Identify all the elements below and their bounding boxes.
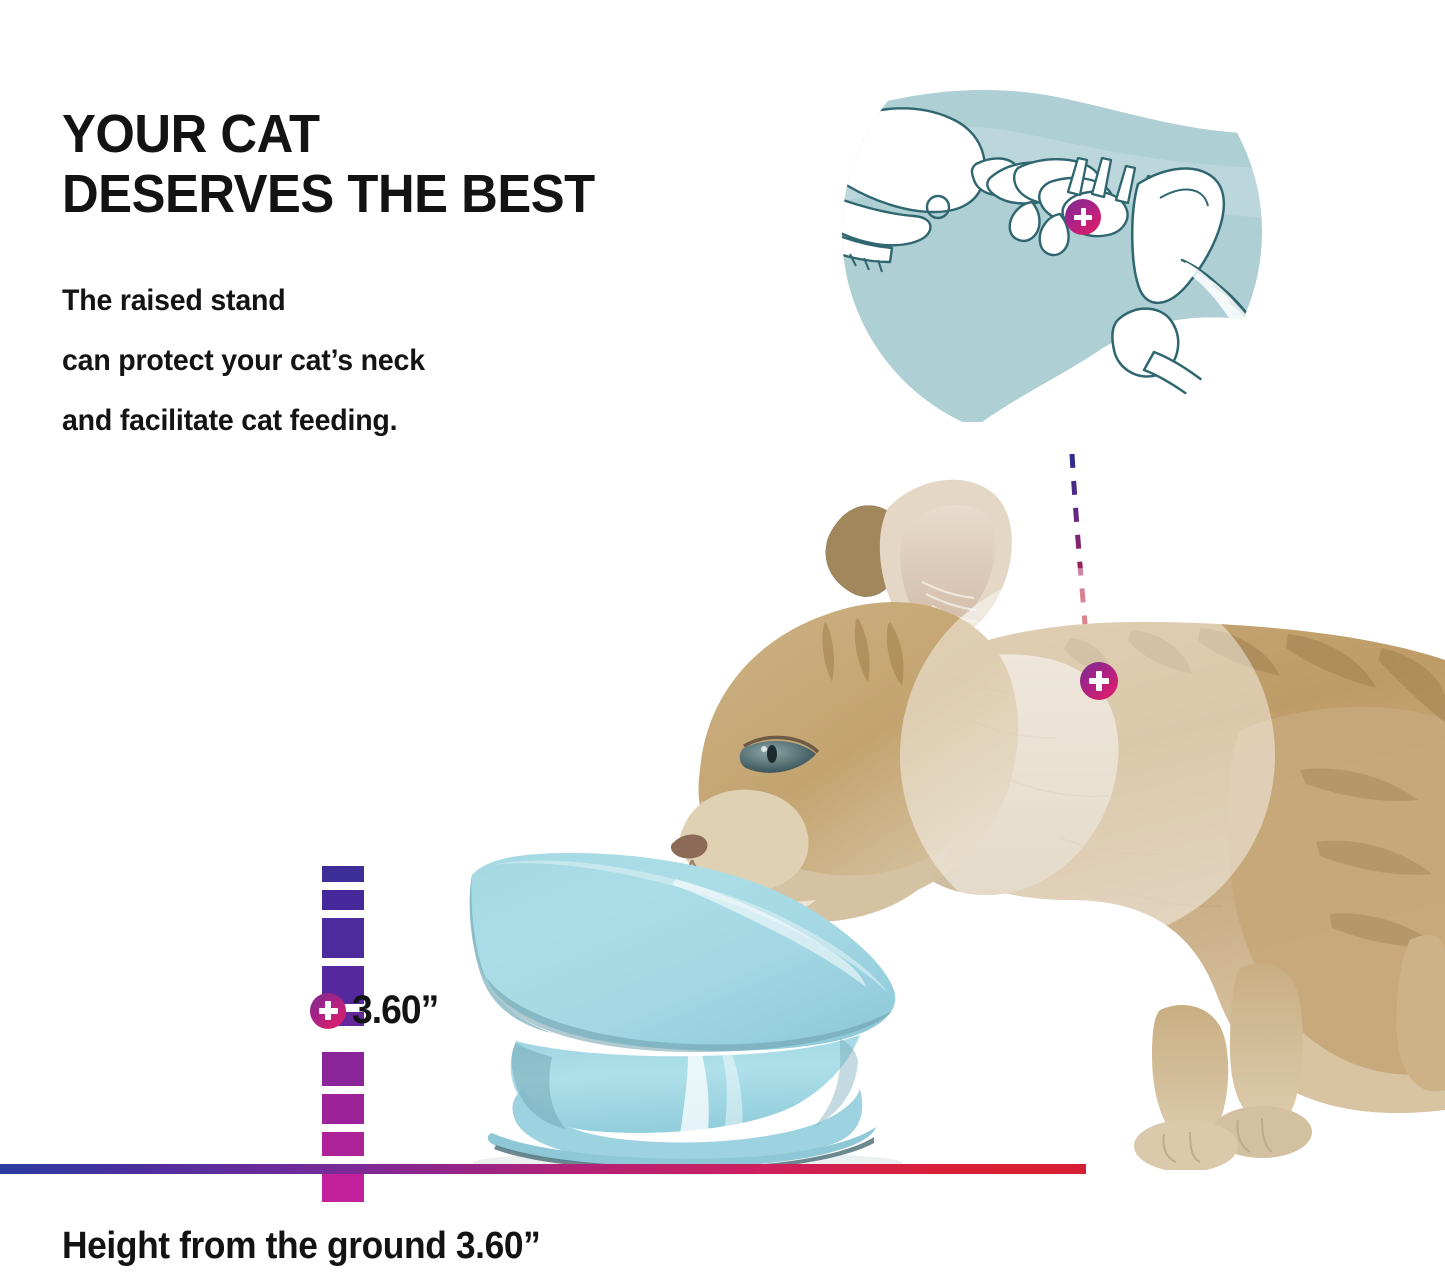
subcopy-line-1: The raised stand — [62, 284, 425, 318]
height-measurement-label: 3.60” — [310, 988, 445, 1033]
headline-line-2: DESERVES THE BEST — [62, 164, 595, 224]
ruler-segment — [322, 866, 364, 882]
xray-neck-plus-icon — [1065, 199, 1101, 235]
ruler-segment — [322, 1132, 364, 1156]
ruler-segment — [322, 1094, 364, 1124]
headline-line-1: YOUR CAT — [62, 104, 595, 164]
product-feature-canvas: YOUR CAT DESERVES THE BEST The raised st… — [0, 0, 1445, 1284]
plus-vertical-bar — [1081, 208, 1086, 226]
subcopy-line-2: can protect your cat’s neck — [62, 344, 425, 378]
measurement-value: 3.60” — [352, 988, 438, 1033]
ruler-segment — [322, 1052, 364, 1086]
ruler-segment — [322, 918, 364, 958]
subcopy-line-3: and facilitate cat feeding. — [62, 404, 425, 438]
plus-vertical-bar — [325, 1001, 331, 1020]
plus-vertical-bar — [1096, 671, 1102, 691]
measurement-plus-icon — [310, 993, 346, 1029]
xray-ring-border — [824, 4, 1280, 460]
ruler-segment — [322, 890, 364, 910]
ground-line — [0, 1164, 1086, 1174]
xray-inset — [824, 4, 1280, 460]
page-title: YOUR CAT DESERVES THE BEST — [62, 104, 595, 225]
footer-caption: Height from the ground 3.60” — [62, 1225, 540, 1268]
elevated-cat-bowl — [440, 845, 920, 1175]
cat-neck-plus-icon — [1080, 662, 1118, 700]
feature-description: The raised stand can protect your cat’s … — [62, 284, 425, 464]
